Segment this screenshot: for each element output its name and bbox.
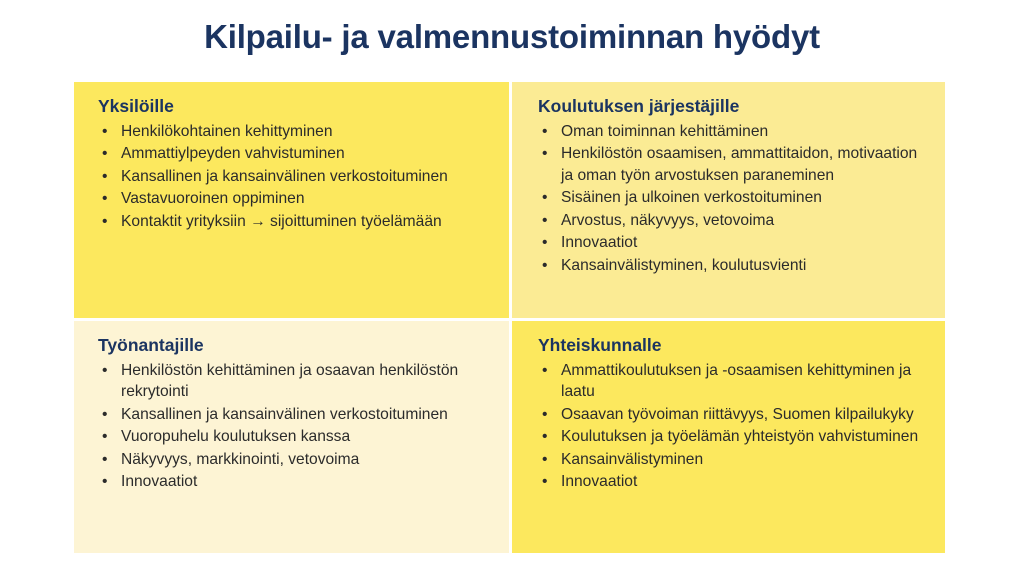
quadrant-koulutuksen-jarjestajille: Koulutuksen järjestäjille • Oman toiminn…	[509, 82, 945, 318]
list-item: • Vuoropuhelu koulutuksen kanssa	[88, 426, 495, 448]
bullet-icon: •	[542, 404, 547, 426]
list-item: • Kansainvälistyminen, koulutusvienti	[526, 255, 931, 277]
bullet-icon: •	[542, 360, 547, 382]
list-item-label: Ammattikoulutuksen ja -osaamisen kehitty…	[561, 362, 911, 401]
list-item-label: Innovaatiot	[561, 473, 637, 490]
bullet-icon: •	[102, 188, 107, 210]
list-item: • Oman toiminnan kehittäminen	[526, 121, 931, 143]
list-item: • Arvostus, näkyvyys, vetovoima	[526, 210, 931, 232]
list-item-label: Koulutuksen ja työelämän yhteistyön vahv…	[561, 428, 918, 445]
list-item: • Henkilökohtainen kehittyminen	[88, 121, 495, 143]
list-item: • Vastavuoroinen oppiminen	[88, 188, 495, 210]
quadrant-yhteiskunnalle: Yhteiskunnalle • Ammattikoulutuksen ja -…	[509, 318, 945, 553]
list-item: • Henkilöstön osaamisen, ammattitaidon, …	[526, 143, 931, 186]
list-item: • Sisäinen ja ulkoinen verkostoituminen	[526, 187, 931, 209]
list-item-label: Arvostus, näkyvyys, vetovoima	[561, 212, 774, 229]
list-item: • Innovaatiot	[88, 471, 495, 493]
list-item-label: Innovaatiot	[121, 473, 197, 490]
bullet-icon: •	[542, 449, 547, 471]
list-item-label: Ammattiylpeyden vahvistuminen	[121, 145, 345, 162]
list-item-label: Osaavan työvoiman riittävyys, Suomen kil…	[561, 406, 914, 423]
bullet-icon: •	[542, 210, 547, 232]
list-item-label: Kansallinen ja kansainvälinen verkostoit…	[121, 168, 448, 185]
list-item-label: Näkyvyys, markkinointi, vetovoima	[121, 451, 359, 468]
list-item: • Kansallinen ja kansainvälinen verkosto…	[88, 404, 495, 426]
bullet-icon: •	[542, 121, 547, 143]
list-item: • Henkilöstön kehittäminen ja osaavan he…	[88, 360, 495, 403]
list-item: • Innovaatiot	[526, 232, 931, 254]
quadrant-list-yksiloille: • Henkilökohtainen kehittyminen • Ammatt…	[88, 121, 495, 233]
list-item-label: Henkilöstön kehittäminen ja osaavan henk…	[121, 362, 458, 401]
quadrant-title-yksiloille: Yksilöille	[98, 96, 495, 118]
list-item: • Kansainvälistyminen	[526, 449, 931, 471]
bullet-icon: •	[102, 404, 107, 426]
list-item: • Koulutuksen ja työelämän yhteistyön va…	[526, 426, 931, 448]
list-item-label: Kansallinen ja kansainvälinen verkostoit…	[121, 406, 448, 423]
list-item: • Ammattikoulutuksen ja -osaamisen kehit…	[526, 360, 931, 403]
bullet-icon: •	[102, 121, 107, 143]
benefit-matrix: Yksilöille • Henkilökohtainen kehittymin…	[74, 82, 945, 553]
list-item-label: Henkilökohtainen kehittyminen	[121, 123, 333, 140]
list-item: • Kansallinen ja kansainvälinen verkosto…	[88, 166, 495, 188]
bullet-icon: •	[102, 426, 107, 448]
list-item: • Osaavan työvoiman riittävyys, Suomen k…	[526, 404, 931, 426]
bullet-icon: •	[542, 255, 547, 277]
slide-canvas: Kilpailu- ja valmennustoiminnan hyödyt Y…	[0, 0, 1024, 576]
quadrant-title-yhteiskunnalle: Yhteiskunnalle	[538, 335, 931, 357]
bullet-icon: •	[102, 211, 107, 233]
quadrant-list-koulutuksen-jarjestajille: • Oman toiminnan kehittäminen • Henkilös…	[526, 121, 931, 277]
quadrant-list-yhteiskunnalle: • Ammattikoulutuksen ja -osaamisen kehit…	[526, 360, 931, 493]
bullet-icon: •	[542, 426, 547, 448]
bullet-icon: •	[542, 471, 547, 493]
bullet-icon: •	[102, 143, 107, 165]
list-item-label: Oman toiminnan kehittäminen	[561, 123, 768, 140]
bullet-icon: •	[542, 143, 547, 165]
bullet-icon: •	[102, 449, 107, 471]
quadrant-list-tyonantajille: • Henkilöstön kehittäminen ja osaavan he…	[88, 360, 495, 493]
bullet-icon: •	[542, 187, 547, 209]
bullet-icon: •	[542, 232, 547, 254]
list-item-label: Vuoropuhelu koulutuksen kanssa	[121, 428, 350, 445]
list-item: • Ammattiylpeyden vahvistuminen	[88, 143, 495, 165]
list-item-label: Innovaatiot	[561, 234, 637, 251]
list-item-label: Kansainvälistyminen	[561, 451, 703, 468]
list-item: • Näkyvyys, markkinointi, vetovoima	[88, 449, 495, 471]
list-item: • Kontaktit yrityksiin → sijoittuminen t…	[88, 211, 495, 233]
page-title: Kilpailu- ja valmennustoiminnan hyödyt	[0, 18, 1024, 56]
bullet-icon: •	[102, 166, 107, 188]
quadrant-title-tyonantajille: Työnantajille	[98, 335, 495, 357]
list-item-label: Vastavuoroinen oppiminen	[121, 190, 305, 207]
list-item-label: Kansainvälistyminen, koulutusvienti	[561, 257, 806, 274]
quadrant-tyonantajille: Työnantajille • Henkilöstön kehittäminen…	[74, 318, 509, 553]
quadrant-title-koulutuksen-jarjestajille: Koulutuksen järjestäjille	[538, 96, 931, 118]
list-item: • Innovaatiot	[526, 471, 931, 493]
bullet-icon: •	[102, 471, 107, 493]
list-item-label: Henkilöstön osaamisen, ammattitaidon, mo…	[561, 145, 917, 184]
quadrant-yksiloille: Yksilöille • Henkilökohtainen kehittymin…	[74, 82, 509, 318]
list-item-label: Kontaktit yrityksiin → sijoittuminen työ…	[121, 213, 442, 230]
bullet-icon: •	[102, 360, 107, 382]
list-item-label: Sisäinen ja ulkoinen verkostoituminen	[561, 189, 822, 206]
